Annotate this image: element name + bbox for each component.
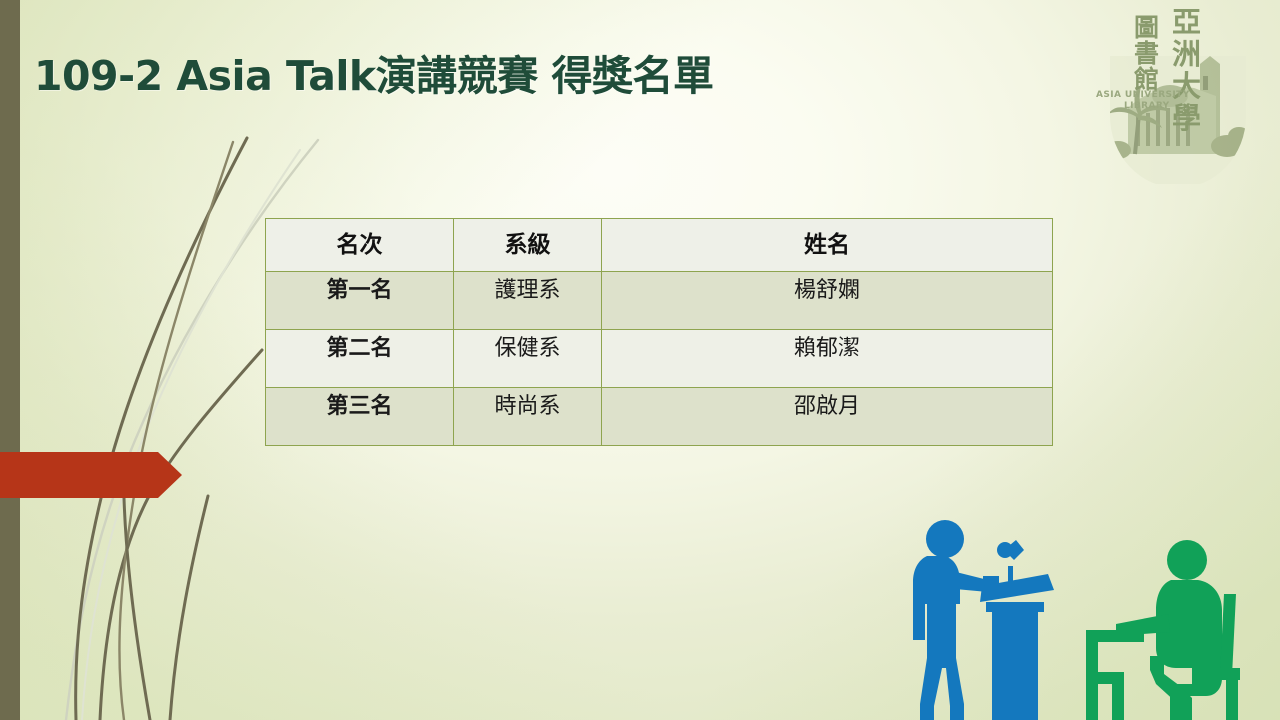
cell-name: 邵啟月 <box>602 388 1053 446</box>
cell-rank: 第三名 <box>266 388 454 446</box>
column-header-name: 姓名 <box>602 219 1053 272</box>
slide-canvas: 109-2 Asia Talk演講競賽 得獎名單 <box>0 0 1280 720</box>
page-title: 109-2 Asia Talk演講競賽 得獎名單 <box>34 42 713 102</box>
cell-department: 護理系 <box>454 272 602 330</box>
logo-char-univ-2: 洲 <box>1172 37 1201 71</box>
seated-listener-at-desk-icon <box>1086 540 1240 720</box>
logo-artwork: 圖 書 館 亞 洲 大 學 ASIA UNIVERSITY LIBRARY <box>1088 4 1268 216</box>
asia-university-library-logo: 圖 書 館 亞 洲 大 學 ASIA UNIVERSITY LIBRARY <box>1088 4 1268 216</box>
table-row: 第三名 時尚系 邵啟月 <box>266 388 1053 446</box>
logo-en-line-1: ASIA UNIVERSITY <box>1096 90 1190 100</box>
column-header-department-label: 系級 <box>454 219 601 271</box>
logo-char-library-1: 圖 <box>1134 13 1159 42</box>
logo-char-univ-1: 亞 <box>1172 5 1201 39</box>
logo-char-library-2: 書 <box>1134 39 1159 68</box>
cell-name: 楊舒嫻 <box>602 272 1053 330</box>
left-accent-bar <box>0 0 20 720</box>
cell-rank: 第一名 <box>266 272 454 330</box>
column-header-rank-label: 名次 <box>266 219 453 271</box>
cell-department: 保健系 <box>454 330 602 388</box>
table-row: 第二名 保健系 賴郁潔 <box>266 330 1053 388</box>
arrow-banner-shape <box>0 452 182 498</box>
speech-illustration <box>880 508 1280 720</box>
award-results-table: 名次 系級 姓名 第一名 護理系 楊舒嫻 第二名 保健系 賴郁潔 <box>265 218 1053 446</box>
speaker-at-podium-icon <box>913 520 1054 720</box>
logo-char-univ-4: 學 <box>1172 101 1201 135</box>
table-header-row: 名次 系級 姓名 <box>266 219 1053 272</box>
column-header-rank: 名次 <box>266 219 454 272</box>
column-header-name-label: 姓名 <box>602 219 1052 271</box>
illustration-artwork <box>880 508 1280 720</box>
logo-en-line-2: LIBRARY <box>1124 101 1170 111</box>
cell-rank: 第二名 <box>266 330 454 388</box>
table-row: 第一名 護理系 楊舒嫻 <box>266 272 1053 330</box>
column-header-department: 系級 <box>454 219 602 272</box>
cell-name: 賴郁潔 <box>602 330 1053 388</box>
cell-department: 時尚系 <box>454 388 602 446</box>
